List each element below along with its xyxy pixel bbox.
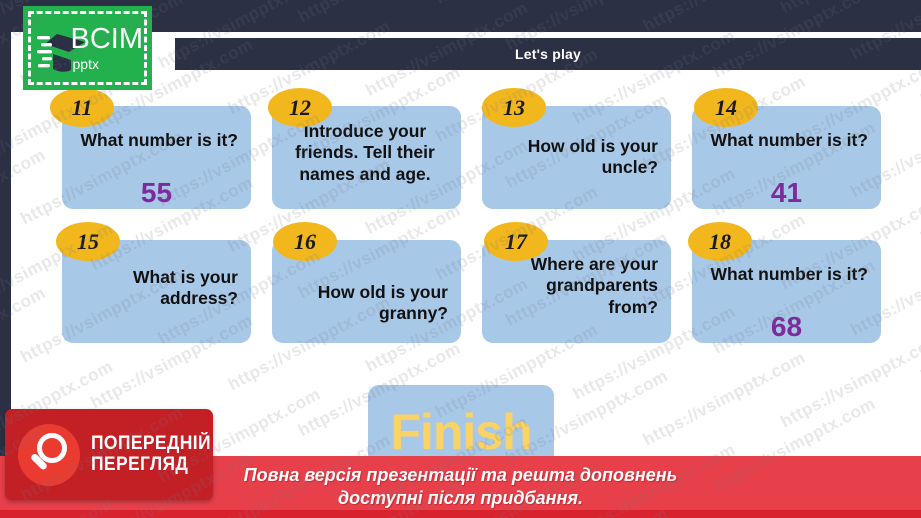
question-card-12-text: Introduce your friends. Tell their names…	[282, 121, 448, 185]
banner-bottom-stripe	[0, 510, 921, 518]
slide-header-bar: Let's play	[175, 38, 921, 70]
bcim-logo: BCIM pptx	[23, 6, 152, 90]
preview-badge-label: ПОПЕРЕДНІЙ ПЕРЕГЛЯД	[91, 434, 211, 475]
preview-badge: ПОПЕРЕДНІЙ ПЕРЕГЛЯД	[5, 409, 213, 500]
question-badge-18: 18	[688, 222, 752, 261]
page-title: Let's play	[515, 46, 581, 62]
logo-sub-text: pptx	[73, 57, 144, 71]
question-card-17-text: Where are your grandparents from?	[492, 254, 658, 318]
logo-main-text: BCIM	[71, 25, 144, 54]
slide-canvas: BCIM pptx Let's play What number is it? …	[0, 0, 921, 518]
question-badge-15: 15	[56, 222, 120, 261]
question-badge-14: 14	[694, 88, 758, 127]
question-card-15-text: What is your address?	[72, 267, 238, 310]
question-card-18-answer: 68	[692, 311, 881, 343]
purchase-banner-line2: доступні після придбання.	[338, 487, 583, 510]
question-card-13-text: How old is your uncle?	[492, 136, 658, 179]
question-card-18-text: What number is it?	[702, 264, 868, 285]
finish-label: Finish	[368, 403, 554, 461]
question-card-11-answer: 55	[62, 177, 251, 209]
question-card-11-text: What number is it?	[72, 130, 238, 151]
magnifier-icon	[18, 424, 80, 486]
question-badge-11: 11	[50, 88, 114, 127]
question-card-14-answer: 41	[692, 177, 881, 209]
preview-badge-line2: ПЕРЕГЛЯД	[91, 455, 211, 476]
question-badge-17: 17	[484, 222, 548, 261]
logo-wordmark: BCIM pptx	[71, 25, 144, 71]
question-card-14-text: What number is it?	[702, 130, 868, 151]
preview-badge-line1: ПОПЕРЕДНІЙ	[91, 434, 211, 455]
question-badge-16: 16	[273, 222, 337, 261]
question-badge-12: 12	[268, 88, 332, 127]
question-badge-13: 13	[482, 88, 546, 127]
purchase-banner-line1: Повна версія презентації та решта доповн…	[244, 464, 678, 487]
question-card-16-text: How old is your granny?	[282, 282, 448, 325]
